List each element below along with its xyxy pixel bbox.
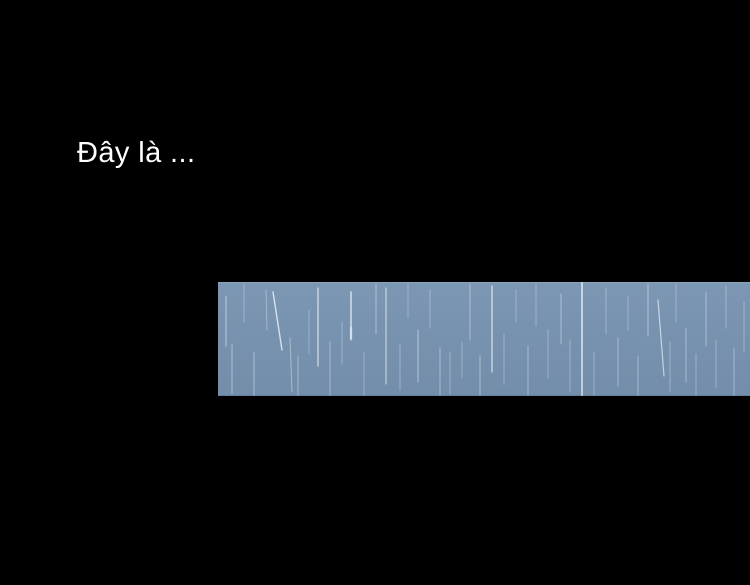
rain-streak: [658, 300, 664, 376]
rain-streak: [290, 338, 292, 392]
rain-video-panel: [218, 282, 750, 396]
rain-streak: [273, 292, 282, 350]
panel-bottom-edge: [218, 395, 750, 396]
caption-text: Đây là ...: [77, 135, 195, 171]
rain-streaks-layer: [218, 282, 750, 396]
panel-top-edge: [218, 282, 750, 283]
scene-canvas: Đây là ...: [0, 0, 750, 585]
rain-streak: [266, 290, 267, 330]
